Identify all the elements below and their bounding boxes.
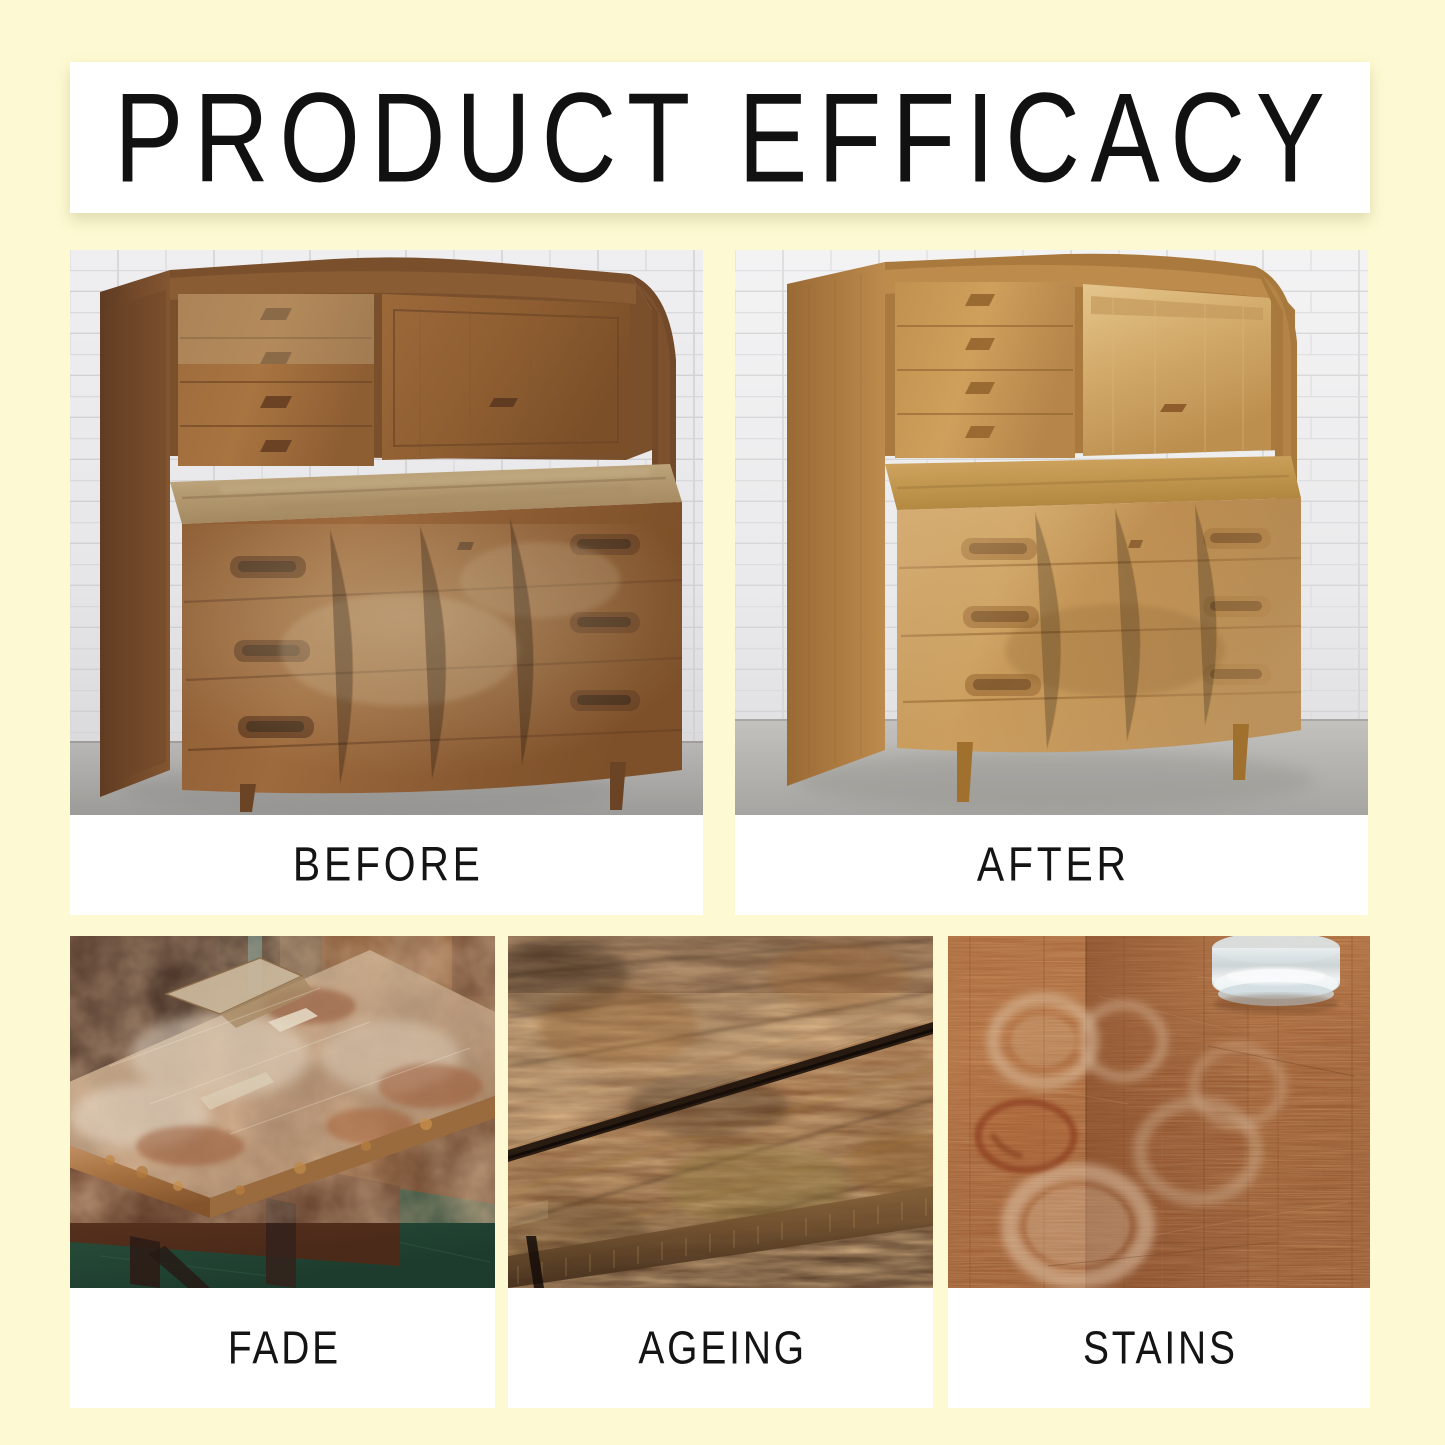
caption-label: AFTER <box>973 838 1130 893</box>
problem-card-fade: FADE <box>70 936 495 1408</box>
faded-teak-secretary-desk-photo <box>70 250 703 815</box>
caption-before: BEFORE <box>70 815 703 915</box>
caption-label: FADE <box>224 1322 341 1375</box>
caption-stains: STAINS <box>948 1288 1370 1408</box>
caption-label: BEFORE <box>289 838 484 893</box>
product-efficacy-infographic: PRODUCT EFFICACY <box>0 0 1445 1445</box>
aged-rustic-plank-photo <box>508 936 933 1288</box>
problem-card-ageing: AGEING <box>508 936 933 1408</box>
water-ring-stains-photo <box>948 936 1370 1288</box>
restored-teak-secretary-desk-photo <box>735 250 1368 815</box>
problem-card-stains: STAINS <box>948 936 1370 1408</box>
caption-ageing: AGEING <box>508 1288 933 1408</box>
title-banner: PRODUCT EFFICACY <box>70 62 1370 213</box>
comparison-card-before: BEFORE <box>70 250 703 915</box>
faded-peeling-tabletop-photo <box>70 936 495 1288</box>
caption-after: AFTER <box>735 815 1368 915</box>
caption-label: STAINS <box>1080 1322 1239 1375</box>
caption-fade: FADE <box>70 1288 495 1408</box>
caption-label: AGEING <box>634 1322 806 1375</box>
comparison-card-after: AFTER <box>735 250 1368 915</box>
page-title: PRODUCT EFFICACY <box>104 74 1336 201</box>
